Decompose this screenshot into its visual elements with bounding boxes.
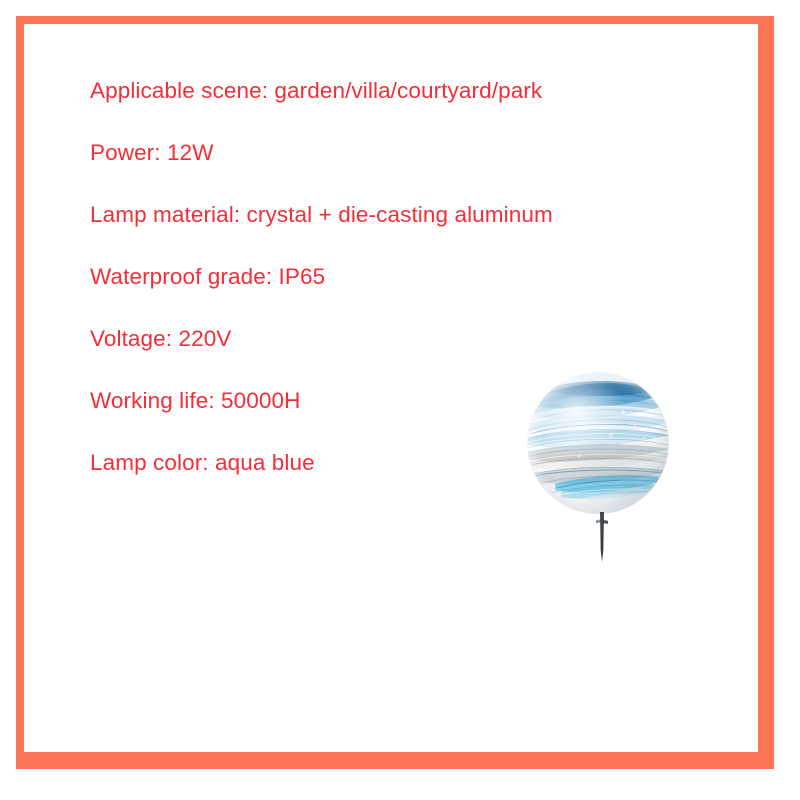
globe-shade [527, 372, 669, 514]
spec-item-power: Power: 12W [90, 142, 690, 204]
product-photo-marble-globe-lamp [522, 366, 682, 571]
spec-item-lamp-material: Lamp material: crystal + die-casting alu… [90, 204, 690, 266]
globe-marble-pattern-icon [527, 372, 669, 514]
product-spec-image: Applicable scene: garden/villa/courtyard… [0, 0, 800, 800]
spec-item-applicable-scene: Applicable scene: garden/villa/courtyard… [90, 80, 690, 142]
spec-item-waterproof-grade: Waterproof grade: IP65 [90, 266, 690, 328]
ground-spike-icon [596, 512, 608, 562]
coral-border-frame: Applicable scene: garden/villa/courtyard… [16, 16, 774, 769]
